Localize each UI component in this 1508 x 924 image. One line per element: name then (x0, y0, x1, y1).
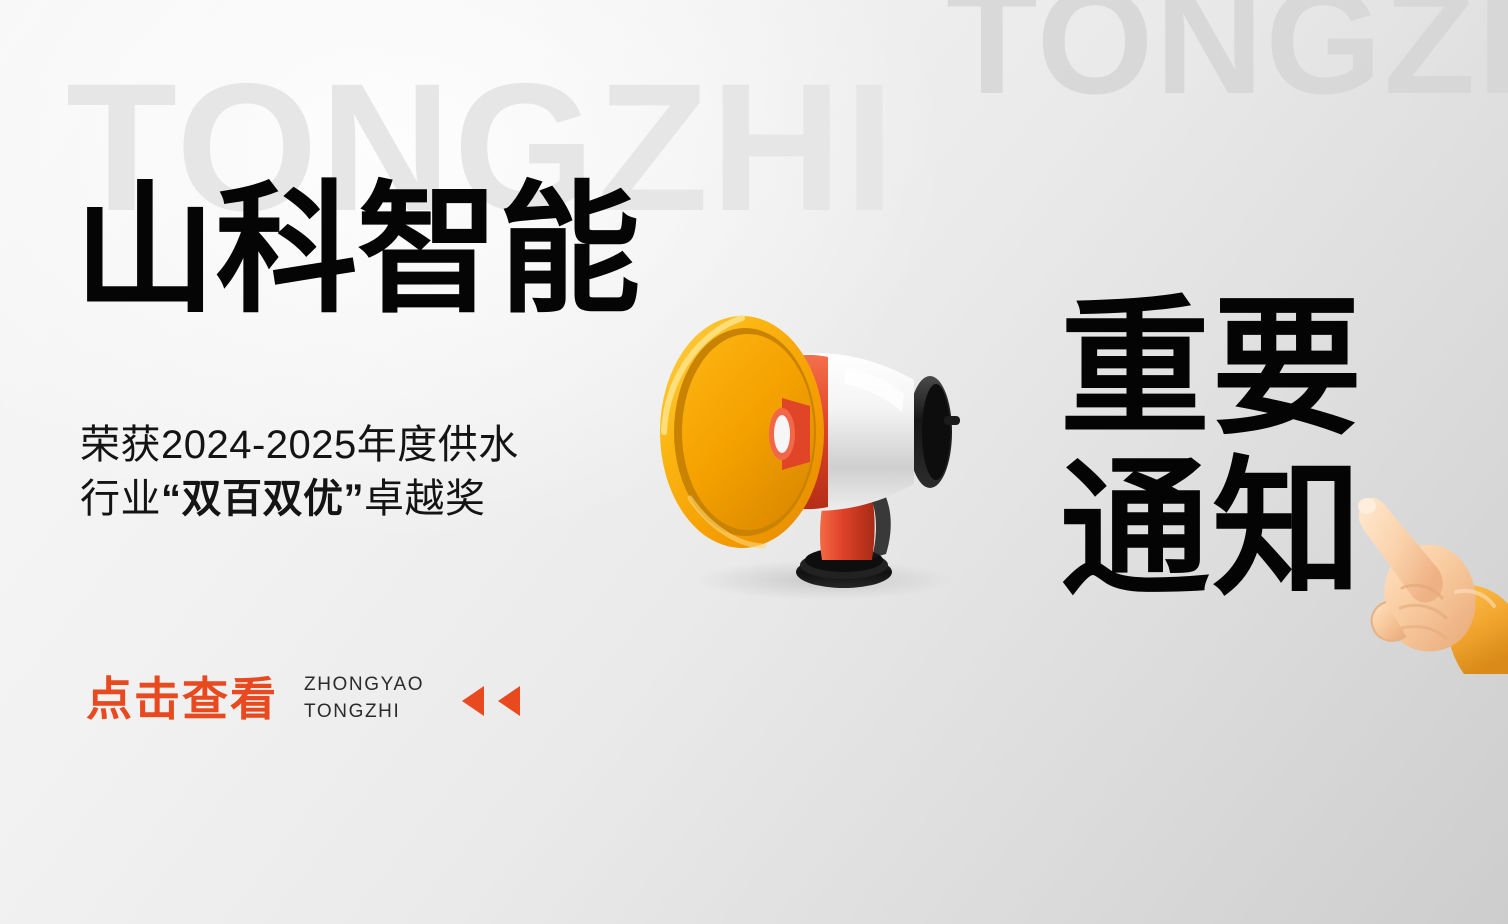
triangle-left-icon (498, 686, 520, 716)
watermark-text-top-right: TONGZHI (946, 0, 1508, 116)
cta-group[interactable]: 点击查看 ZHONGYAO TONGZHI (86, 672, 520, 726)
subtitle-line-2: 行业“双百双优”卓越奖 (80, 473, 774, 527)
triangle-left-icon (462, 686, 484, 716)
subtitle-line-2-prefix: 行业 (80, 477, 161, 521)
headline-line-1: 重要 (1060, 288, 1460, 449)
left-content-column: 山科智能 荣获2024-2025年度供水 行业“双百双优”卓越奖 (74, 176, 774, 526)
pointing-hand-3d-icon (1336, 492, 1508, 674)
subtitle-line-2-emphasis: “双百双优” (161, 477, 364, 521)
cta-pinyin: ZHONGYAO TONGZHI (304, 672, 424, 726)
cta-pinyin-line-1: ZHONGYAO (304, 672, 424, 699)
subtitle-line-1: 荣获2024-2025年度供水 (80, 419, 774, 473)
cta-pinyin-line-2: TONGZHI (304, 699, 424, 726)
view-details-button[interactable]: 点击查看 (86, 676, 278, 722)
page-title: 山科智能 (74, 176, 774, 325)
cta-arrow-group (462, 686, 520, 716)
subtitle: 荣获2024-2025年度供水 行业“双百双优”卓越奖 (80, 419, 774, 526)
promotional-banner: TONGZHI TONGZHI (0, 0, 1508, 924)
subtitle-line-2-suffix: 卓越奖 (364, 477, 486, 521)
